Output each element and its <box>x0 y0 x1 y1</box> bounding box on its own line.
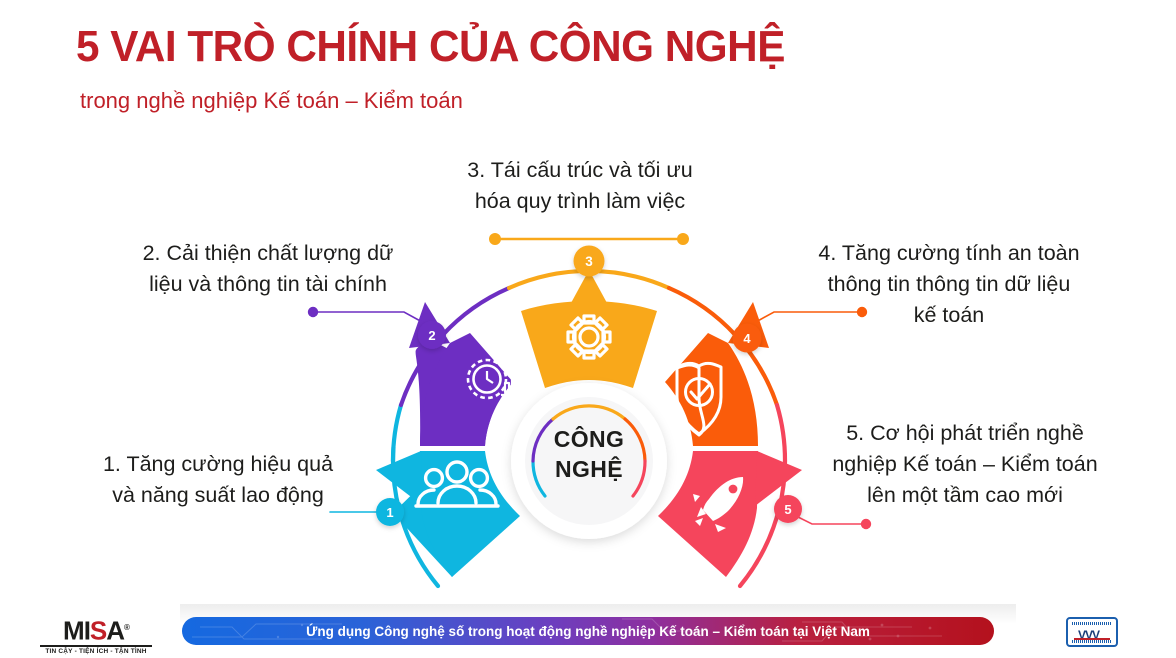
segment-1-arrow <box>376 451 423 506</box>
misa-mi: MI <box>63 616 90 646</box>
connector-2 <box>315 312 424 323</box>
misa-tagline: TIN CẬY - TIỆN ÍCH - TẬN TÌNH <box>36 648 156 655</box>
badge-3[interactable]: 3 <box>574 246 605 277</box>
infographic-page: 5 VAI TRÒ CHÍNH CỦA CÔNG NGHỆ trong nghề… <box>0 0 1176 658</box>
misa-a: A <box>106 616 124 646</box>
connector-dot-3a <box>489 233 501 245</box>
outer-arc-5 <box>777 405 785 461</box>
connector-5 <box>792 514 864 524</box>
callout-3: 3. Tái cấu trúc và tối ưu hóa quy trình … <box>436 155 724 217</box>
segment-4[interactable] <box>665 302 769 446</box>
segment-3-arrow <box>565 270 613 314</box>
misa-s: S <box>90 616 106 646</box>
callout-4: 4. Tăng cường tính an toàn thông tin thô… <box>796 238 1102 331</box>
badge-5-label: 5 <box>784 502 791 517</box>
ribbon-text: Ứng dụng Công nghệ số trong hoạt động ng… <box>182 617 994 645</box>
badge-4-label: 4 <box>743 331 751 346</box>
badge-4[interactable]: 4 <box>733 324 762 353</box>
badge-3-label: 3 <box>585 254 593 269</box>
misa-registered: ® <box>124 623 129 632</box>
center-label-line2: NGHỆ <box>522 454 656 484</box>
vaa-bottom-text <box>1072 640 1112 643</box>
segment-3[interactable] <box>521 270 657 388</box>
footer-ribbon: Ứng dụng Công nghệ số trong hoạt động ng… <box>182 617 994 645</box>
misa-wordmark: MISA® <box>36 616 156 643</box>
connector-dot-5 <box>861 519 871 529</box>
badge-2[interactable]: 2 <box>418 321 446 349</box>
badge-2-label: 2 <box>428 328 435 343</box>
misa-logo: MISA® TIN CẬY - TIỆN ÍCH - TẬN TÌNH <box>36 616 156 655</box>
badge-1-label: 1 <box>386 505 393 520</box>
badge-1[interactable]: 1 <box>376 498 404 526</box>
center-label-line1: CÔNG <box>522 424 656 454</box>
vaa-logo: VVV <box>1066 617 1118 647</box>
vaa-top-text <box>1072 622 1112 625</box>
badge-5[interactable]: 5 <box>774 495 802 523</box>
center-label: CÔNG NGHỆ <box>522 424 656 484</box>
callout-5: 5. Cơ hội phát triển nghề nghiệp Kế toán… <box>812 418 1118 511</box>
callout-1: 1. Tăng cường hiệu quả và năng suất lao … <box>78 449 358 511</box>
connector-dot-2 <box>308 307 318 317</box>
connector-dot-3b <box>677 233 689 245</box>
outer-arc-1c <box>393 405 401 461</box>
callout-2: 2. Cải thiện chất lượng dữ liệu và thông… <box>118 238 418 300</box>
